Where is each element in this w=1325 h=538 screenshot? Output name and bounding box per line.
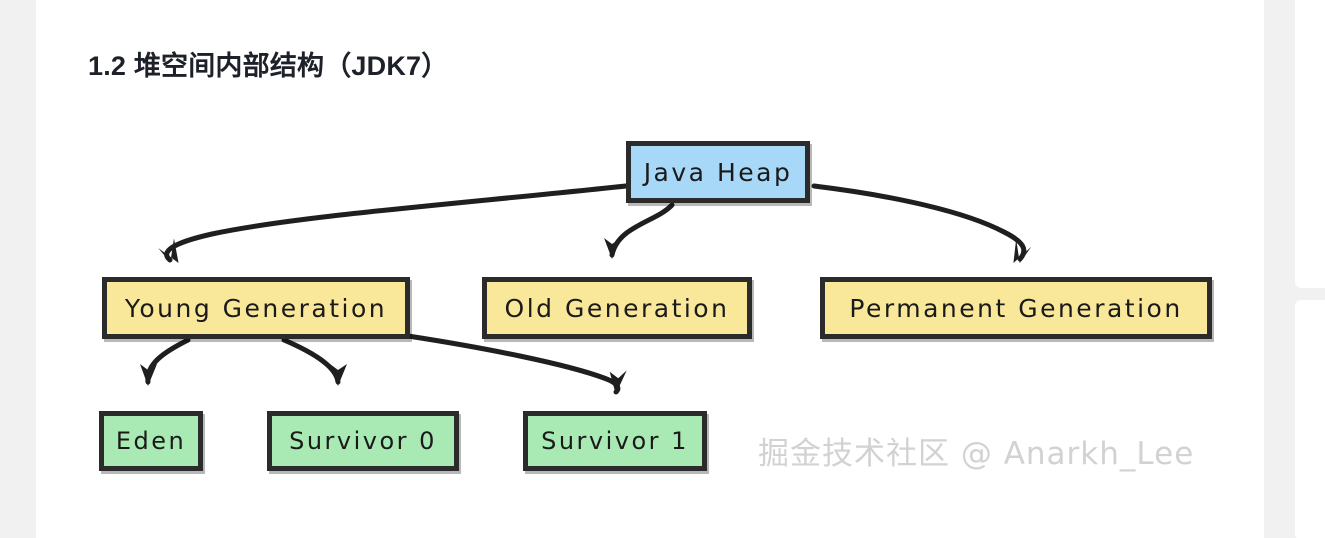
node-old-generation: Old Generation bbox=[482, 277, 752, 339]
node-young-generation-label: Young Generation bbox=[125, 294, 387, 323]
node-survivor-0-label: Survivor 0 bbox=[289, 427, 437, 455]
edge-heap-to-permanent bbox=[814, 186, 1024, 259]
node-survivor-1: Survivor 1 bbox=[523, 411, 707, 471]
edge-young-to-eden bbox=[148, 340, 188, 382]
arrowhead-survivor0 bbox=[330, 364, 347, 386]
edge-young-to-survivor1 bbox=[408, 336, 618, 392]
edge-young-to-survivor0 bbox=[284, 340, 338, 382]
node-java-heap-label: Java Heap bbox=[644, 158, 793, 187]
node-old-generation-label: Old Generation bbox=[505, 294, 730, 323]
watermark-text: 掘金技术社区 @ Anarkh_Lee bbox=[758, 428, 1194, 473]
node-survivor-0: Survivor 0 bbox=[267, 411, 459, 471]
node-java-heap: Java Heap bbox=[626, 141, 810, 203]
node-permanent-generation: Permanent Generation bbox=[820, 277, 1212, 339]
page-root: 1.2 堆空间内部结构（JDK7） bbox=[0, 0, 1325, 538]
right-rail-card-top bbox=[1295, 0, 1325, 288]
edge-heap-to-young bbox=[167, 186, 626, 260]
arrowhead-permanent bbox=[1007, 235, 1035, 265]
arrowhead-old bbox=[604, 238, 621, 259]
heap-structure-diagram: Java Heap Young Generation Old Generatio… bbox=[36, 0, 1264, 538]
node-eden: Eden bbox=[99, 411, 203, 471]
node-eden-label: Eden bbox=[116, 427, 186, 455]
node-young-generation: Young Generation bbox=[102, 277, 410, 339]
edge-heap-to-old bbox=[612, 205, 672, 255]
right-rail-card-bottom bbox=[1295, 300, 1325, 538]
node-permanent-generation-label: Permanent Generation bbox=[849, 294, 1182, 323]
node-survivor-1-label: Survivor 1 bbox=[541, 427, 689, 455]
